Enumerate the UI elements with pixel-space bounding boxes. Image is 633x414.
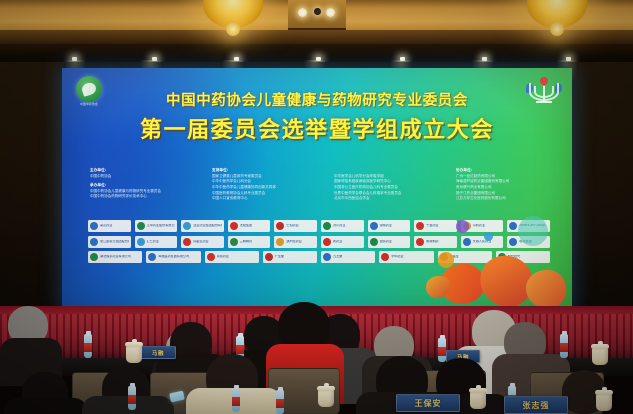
projector-lens — [314, 8, 321, 15]
sponsor-logo-name: 九芝堂 — [333, 255, 373, 258]
sponsor-logo-name: 以岭药业 — [217, 255, 257, 258]
bottle-cap — [440, 335, 445, 339]
sponsor-logo-name: 汇仁药业 — [147, 240, 176, 243]
water-bottle — [232, 388, 240, 412]
chandelier-right — [520, 0, 594, 44]
tea-cup — [318, 390, 334, 407]
chandelier-drop — [226, 22, 240, 36]
deco-dot-purple — [456, 220, 469, 233]
name-placard-zhang-zhiqiang: 张志强 — [504, 396, 568, 414]
sponsor-logo: 仁和药业 — [274, 220, 317, 232]
bottle-cap — [278, 387, 283, 391]
sponsor-logo: 湖北恒泰药业有限公司 — [88, 251, 142, 263]
water-bottle — [128, 386, 136, 410]
cup-knob — [602, 387, 607, 391]
audience-area: 马融 马融 — [0, 300, 633, 414]
sponsor-logo-mark-icon — [370, 222, 378, 230]
bottle-cap — [238, 333, 243, 337]
sponsor-logo-name: 葵花药业 — [100, 224, 129, 227]
sponsor-logo-mark-icon — [183, 238, 191, 246]
sponsor-logo: 九芝堂 — [321, 251, 375, 263]
sponsor-logo-mark-icon — [183, 222, 191, 230]
deco-dot-blue — [484, 232, 493, 241]
cup-knob — [324, 383, 329, 387]
sponsor-logo-mark-icon — [207, 253, 215, 261]
sponsor-logo-name: 太极集团 — [240, 224, 269, 227]
sponsor-logo-name: 好医生药业 — [193, 240, 222, 243]
sponsor-logo-name: 亚宝药业集团股份有限公司 — [193, 224, 222, 227]
screen-title-sub: 第一届委员会选举暨学组成立大会 — [62, 120, 572, 142]
sponsor-logo-name: 葫芦娃药业 — [286, 240, 315, 243]
sponsor-logo: 以岭药业 — [205, 251, 259, 263]
cup-knob — [598, 341, 603, 345]
bottle-cap — [86, 331, 91, 335]
sponsor-logo: 江中药业股份有限公司 — [135, 220, 178, 232]
sponsor-logo: 葫芦娃药业 — [274, 236, 317, 248]
bottle-cap — [234, 385, 239, 389]
water-bottle — [438, 338, 446, 362]
sponsor-logo: 浙江康恩贝集团股份有限公司 — [88, 236, 131, 248]
ceiling-projector-housing — [288, 0, 346, 30]
wall-panel-right — [570, 62, 633, 308]
credits-line: 江苏万邦生化医药股份有限公司 — [456, 196, 560, 202]
sponsor-logo-mark-icon — [323, 238, 331, 246]
tea-cup — [596, 394, 612, 411]
water-bottle — [276, 390, 284, 414]
sponsor-logo-mark-icon — [90, 253, 98, 261]
placard-text: 张志强 — [523, 400, 550, 411]
sponsor-logo-mark-icon — [137, 238, 145, 246]
emblem-red-cross-dot — [540, 77, 548, 85]
chandelier-drop — [550, 22, 564, 36]
sponsor-logo-mark-icon — [90, 238, 98, 246]
wall-panel-left — [0, 62, 64, 308]
sponsor-logo: 青峰医药集团有限公司 — [146, 251, 200, 263]
sponsor-logo-name: 仁和药业 — [286, 224, 315, 227]
sponsor-logo-name: 新药业 — [333, 240, 362, 243]
sponsor-logo: 健民药业 — [368, 236, 411, 248]
sponsor-logo-name: 湖北恒泰药业有限公司 — [100, 255, 140, 258]
sponsor-logo-name: 康缘药业 — [380, 224, 409, 227]
sponsor-logo-mark-icon — [323, 253, 331, 261]
sponsor-logo-name: 济川药业 — [333, 224, 362, 227]
sponsor-logo-mark-icon — [137, 222, 145, 230]
decorative-abstract-figures — [422, 212, 572, 308]
sponsor-logo-name: 浙江康恩贝集团股份有限公司 — [100, 240, 129, 243]
water-bottle — [84, 334, 92, 358]
sponsor-logo-mark-icon — [370, 238, 378, 246]
sponsor-logo-mark-icon — [276, 238, 284, 246]
sponsor-logo: 广生堂 — [263, 251, 317, 263]
sponsor-logo: 太极集团 — [228, 220, 271, 232]
deco-dot-teal — [518, 216, 548, 246]
bottle-cap — [130, 383, 135, 387]
sponsor-logo-name: 江中药业股份有限公司 — [147, 224, 176, 227]
sponsor-logo-name: 青峰医药集团有限公司 — [158, 255, 198, 258]
sponsor-logo: 三精制药 — [228, 236, 271, 248]
sponsor-logo: 好医生药业 — [181, 236, 224, 248]
attendee-body-front — [4, 398, 88, 414]
chandelier-left — [196, 0, 270, 44]
sponsor-logo: 亚宝药业集团股份有限公司 — [181, 220, 224, 232]
sponsor-logo-mark-icon — [265, 253, 273, 261]
bottle-cap — [562, 331, 567, 335]
cup-knob — [476, 385, 481, 389]
conference-hall-photo: 中国中药协会 中国中药协会儿童健康与药物研究专业委员会 第一届委员会选举暨学组成… — [0, 0, 633, 414]
sponsor-logo: 济川药业 — [321, 220, 364, 232]
tea-cup — [470, 392, 486, 409]
sponsor-logo: 葵花药业 — [88, 220, 131, 232]
placard-text: 马融 — [152, 349, 164, 357]
projector-lamp-right — [326, 8, 335, 17]
credits-line: 中国中药协会药物研究评价技术中心 — [90, 194, 202, 200]
sponsor-logo-name: 三精制药 — [240, 240, 269, 243]
screen-title-main: 中国中药协会儿童健康与药物研究专业委员会 — [62, 94, 572, 109]
credits-column-co-organizer: 协办单位： 广州一品红制药有限公司 海南葫芦娃药业集团股份有限公司 贵州健兴药业… — [456, 168, 560, 202]
water-bottle — [560, 334, 568, 358]
placard-text: 王保安 — [415, 398, 442, 409]
credits-line: 中国人口宣传教育中心 — [212, 196, 324, 202]
bottle-cap — [510, 383, 515, 387]
cup-knob — [132, 339, 137, 343]
sponsor-logo: 康缘药业 — [368, 220, 411, 232]
sponsor-logo-mark-icon — [230, 238, 238, 246]
name-placard-ma-rong: 马融 — [140, 346, 176, 359]
sponsor-logo-name: 健民药业 — [380, 240, 409, 243]
credits-line: 北京市中西医结合学会 — [334, 196, 446, 202]
projector-lamp-left — [298, 8, 307, 17]
tea-cup — [126, 346, 142, 363]
tea-cup — [592, 348, 608, 365]
credits-column-supporter-continued: . 中华医学会儿科学分会呼吸学组 国家呼吸系统疾病临床医学研究中心 中国非公立医… — [334, 168, 446, 202]
sponsor-logo-mark-icon — [148, 253, 156, 261]
sponsor-logo: 汇仁药业 — [135, 236, 178, 248]
sponsor-logo-mark-icon — [323, 222, 331, 230]
led-stage-screen: 中国中药协会 中国中药协会儿童健康与药物研究专业委员会 第一届委员会选举暨学组成… — [62, 68, 572, 308]
credits-column-organizer: 主办单位： 中国中药协会 承办单位： 中国中药协会儿童健康与药物研究专业委员会 … — [90, 168, 202, 200]
sponsor-logo-mark-icon — [90, 222, 98, 230]
sponsor-logo-mark-icon — [276, 222, 284, 230]
sponsor-logo-mark-icon — [381, 253, 389, 261]
sponsor-logo-name: 广生堂 — [275, 255, 315, 258]
credits-column-supporter: 支持单位： 国家卫健委儿童用药专家委员会 中华中医药学会儿科分会 中华中医药学会… — [212, 168, 324, 202]
sponsor-logo: 新药业 — [321, 236, 364, 248]
name-placard-wang-baoan: 王保安 — [396, 394, 460, 412]
screen-credits: 主办单位： 中国中药协会 承办单位： 中国中药协会儿童健康与药物研究专业委员会 … — [90, 168, 548, 216]
sponsor-logo-mark-icon — [230, 222, 238, 230]
